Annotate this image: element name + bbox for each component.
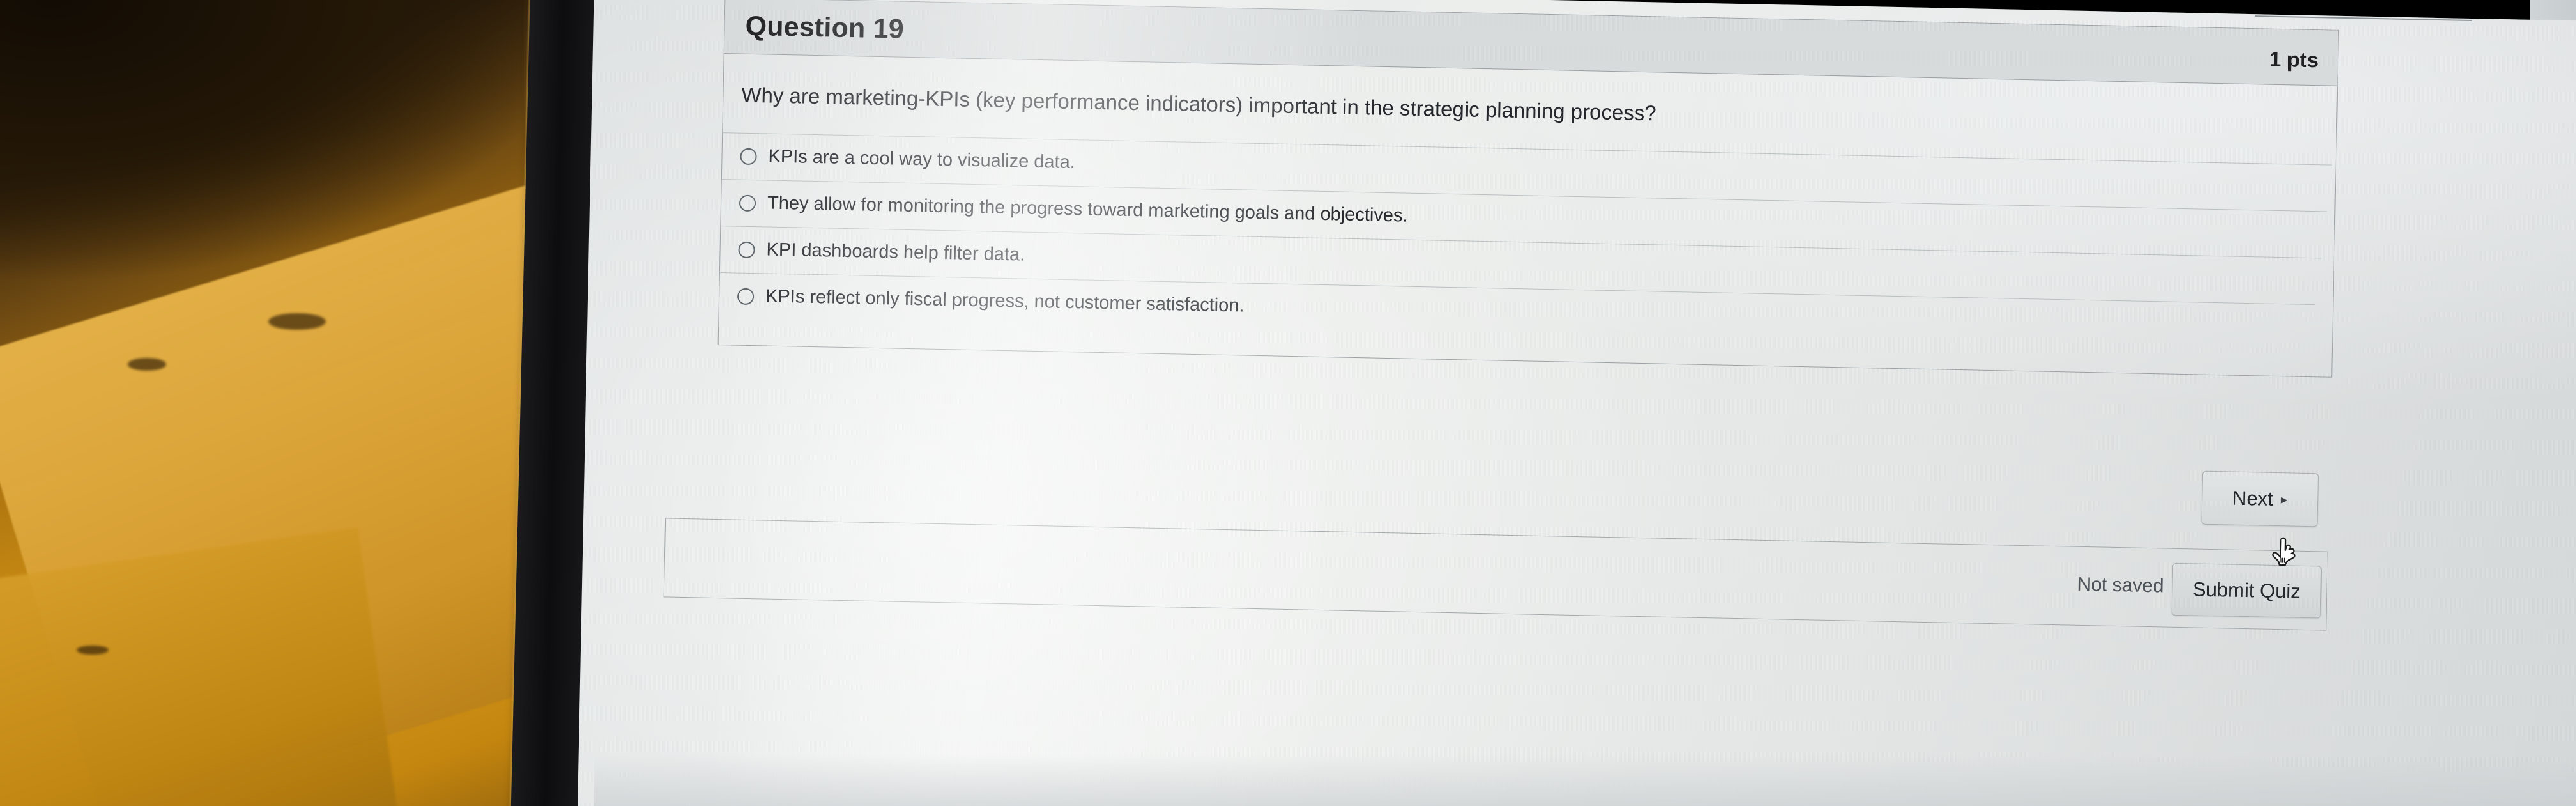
photo-of-monitor: Question 19 1 pts Why are marketing-KPIs… (0, 0, 2576, 806)
radio-button-icon[interactable] (738, 241, 755, 258)
background-speck (268, 313, 326, 330)
question-points: 1 pts (2269, 47, 2319, 73)
next-button-label: Next (2232, 487, 2273, 511)
sidebar-attempt-label: Attemp (2435, 72, 2576, 97)
question-body: Why are marketing-KPIs (key performance … (719, 54, 2338, 376)
answer-option-label: KPIs are a cool way to visualize data. (768, 146, 1075, 174)
next-button[interactable]: Next ▸ (2201, 471, 2319, 527)
background-speck (77, 646, 109, 655)
quiz-footer-bar: Not saved Submit Quiz (664, 518, 2328, 630)
monitor-screen: Question 19 1 pts Why are marketing-KPIs… (577, 0, 2576, 806)
question-title: Question 19 (745, 11, 904, 45)
chevron-right-icon: ▸ (2281, 493, 2288, 506)
answer-options-list: KPIs are a cool way to visualize data. T… (719, 132, 2335, 352)
save-status-label: Not saved (2077, 574, 2164, 598)
answer-option-label: KPIs reflect only fiscal progress, not c… (765, 286, 1245, 317)
sidebar-minutes-label: 29 Mi (2435, 97, 2576, 129)
answer-option-label: They allow for monitoring the progress t… (767, 193, 1408, 227)
quiz-page: Question 19 1 pts Why are marketing-KPIs… (577, 0, 2576, 806)
sidebar-time-label: Time (2436, 35, 2576, 66)
answer-option-label: KPI dashboards help filter data. (766, 240, 1025, 266)
submit-quiz-label: Submit Quiz (2193, 578, 2301, 603)
radio-button-icon[interactable] (739, 194, 756, 212)
pointer-hand-cursor (2269, 537, 2299, 572)
radio-button-icon[interactable] (737, 288, 755, 305)
question-card: Question 19 1 pts Why are marketing-KPIs… (718, 0, 2339, 377)
background-speck (128, 358, 166, 371)
quiz-sidebar: Time Attemp 29 Mi (2435, 18, 2576, 129)
radio-button-icon[interactable] (740, 148, 757, 165)
submit-quiz-button[interactable]: Submit Quiz (2172, 563, 2322, 619)
background-paper-napkin-second (0, 527, 404, 806)
